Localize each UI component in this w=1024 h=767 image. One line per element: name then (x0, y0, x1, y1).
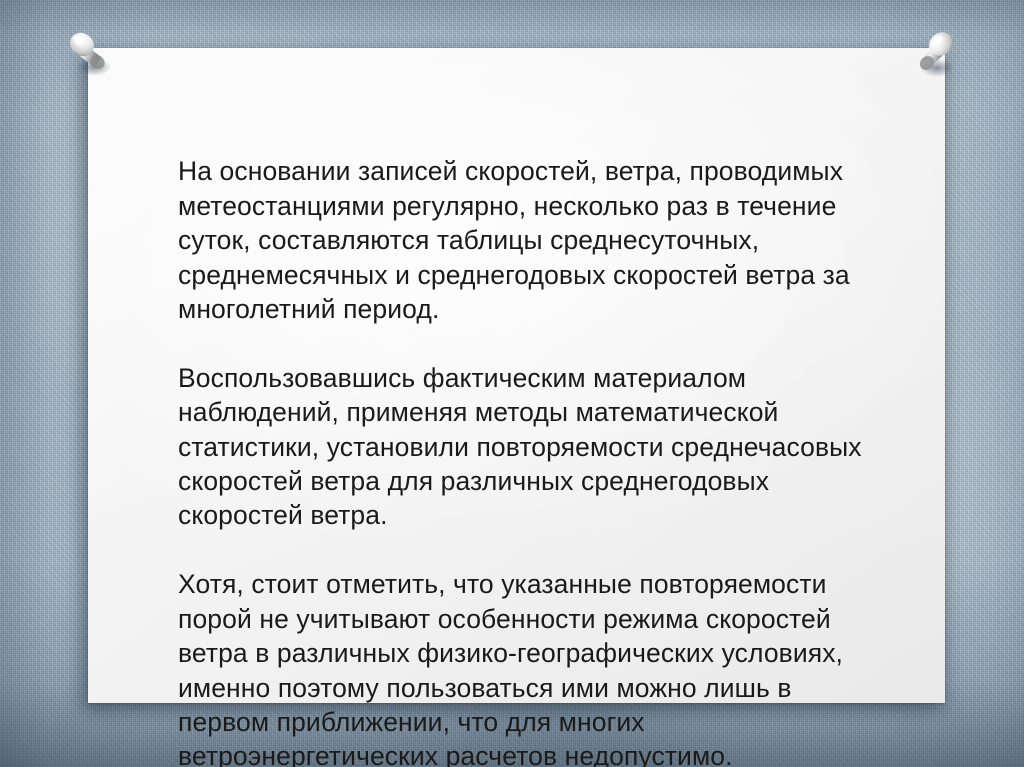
pinned-paper-card: На основании записей скоростей, ветра, п… (88, 48, 945, 703)
paragraph-1: На основании записей скоростей, ветра, п… (178, 154, 878, 326)
presentation-slide: На основании записей скоростей, ветра, п… (0, 0, 1024, 767)
slide-text-body: На основании записей скоростей, ветра, п… (178, 120, 878, 767)
paragraph-2: Воспользовавшись фактическим материалом … (178, 361, 878, 533)
paragraph-3: Хотя, стоит отметить, что указанные повт… (178, 567, 878, 767)
